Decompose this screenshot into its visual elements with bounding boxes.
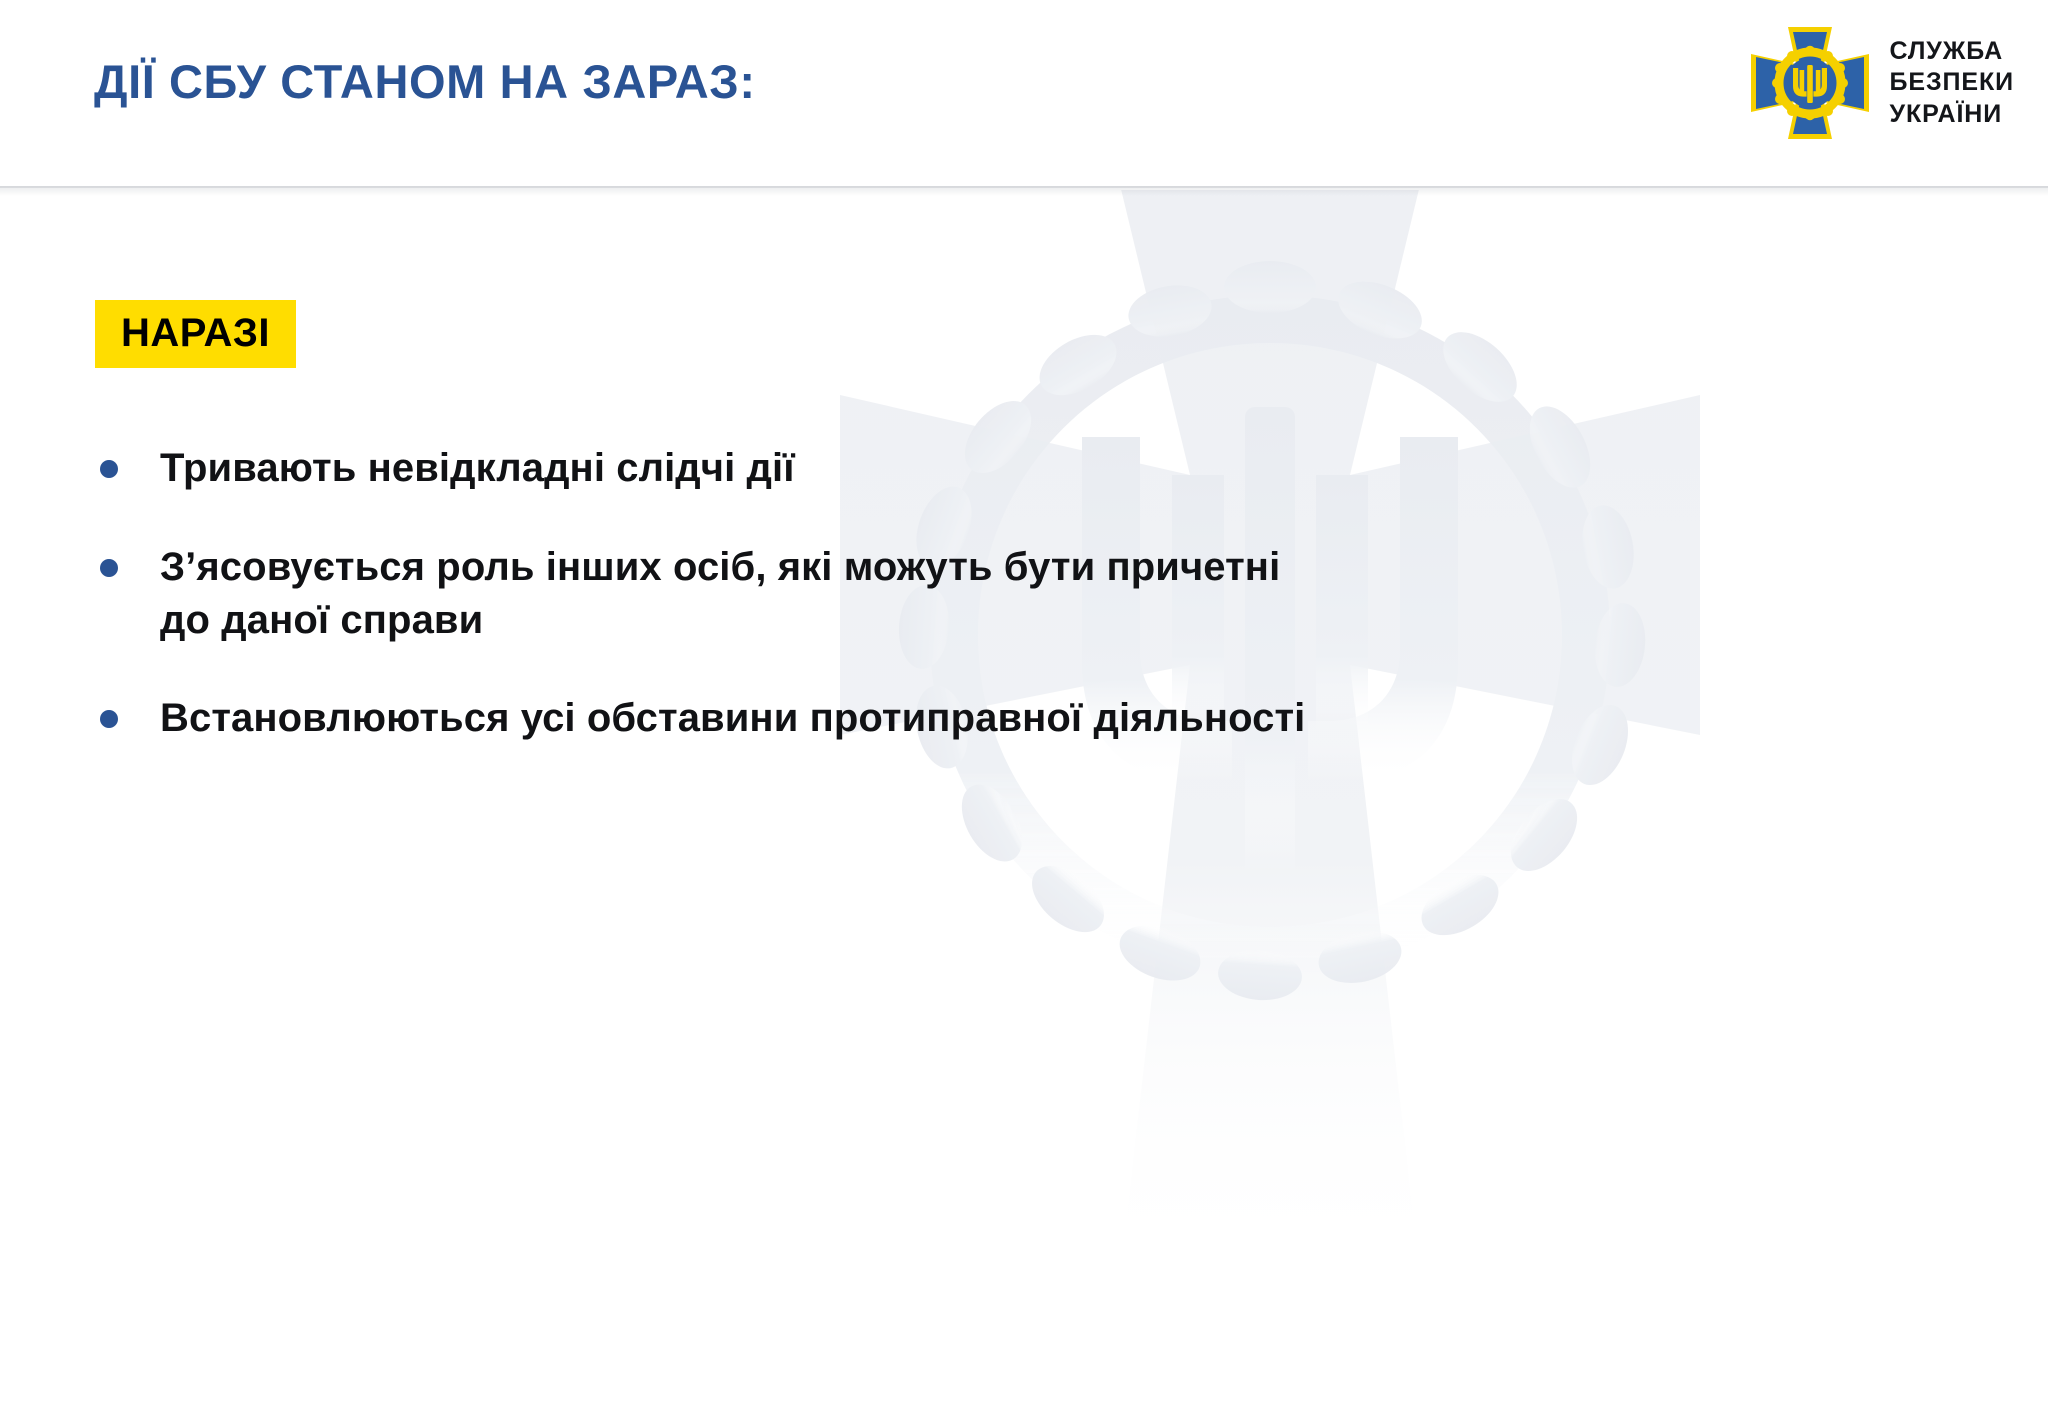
sbu-logo-line-1: СЛУЖБА bbox=[1890, 37, 2014, 67]
bullet-line: Тривають невідкладні слідчі дії bbox=[160, 442, 795, 495]
section-highlight-label: НАРАЗІ bbox=[95, 300, 296, 368]
section-highlight-text: НАРАЗІ bbox=[121, 313, 270, 353]
sbu-emblem-icon bbox=[1748, 24, 1872, 142]
bullet-line: З’ясовується роль інших осіб, які можуть… bbox=[160, 541, 1280, 594]
sbu-logo-text: СЛУЖБА БЕЗПЕКИ УКРАЇНИ bbox=[1890, 37, 2014, 130]
bullet-text: Тривають невідкладні слідчі дії bbox=[160, 442, 795, 495]
sbu-logo-line-2: БЕЗПЕКИ bbox=[1890, 68, 2014, 98]
list-item: З’ясовується роль інших осіб, які можуть… bbox=[100, 541, 1860, 647]
list-item: Встановлюються усі обставини протиправно… bbox=[100, 692, 1860, 745]
header-shadow bbox=[0, 186, 2048, 196]
sbu-logo: СЛУЖБА БЕЗПЕКИ УКРАЇНИ bbox=[1748, 24, 2014, 142]
bullet-text: З’ясовується роль інших осіб, які можуть… bbox=[160, 541, 1280, 647]
list-item: Тривають невідкладні слідчі дії bbox=[100, 442, 1860, 495]
bullet-dot-icon bbox=[100, 460, 118, 478]
bullet-line: Встановлюються усі обставини протиправно… bbox=[160, 692, 1305, 745]
slide-title: ДІЇ СБУ СТАНОМ НА ЗАРАЗ: bbox=[94, 54, 756, 109]
bullet-dot-icon bbox=[100, 559, 118, 577]
sbu-logo-line-3: УКРАЇНИ bbox=[1890, 100, 2014, 130]
slide-canvas: ДІЇ СБУ СТАНОМ НА ЗАРАЗ: bbox=[0, 0, 2048, 1417]
bullet-dot-icon bbox=[100, 710, 118, 728]
bullet-line: до даної справи bbox=[160, 594, 1280, 647]
bullet-list: Тривають невідкладні слідчі дії З’ясовує… bbox=[100, 442, 1860, 791]
bullet-text: Встановлюються усі обставини протиправно… bbox=[160, 692, 1305, 745]
